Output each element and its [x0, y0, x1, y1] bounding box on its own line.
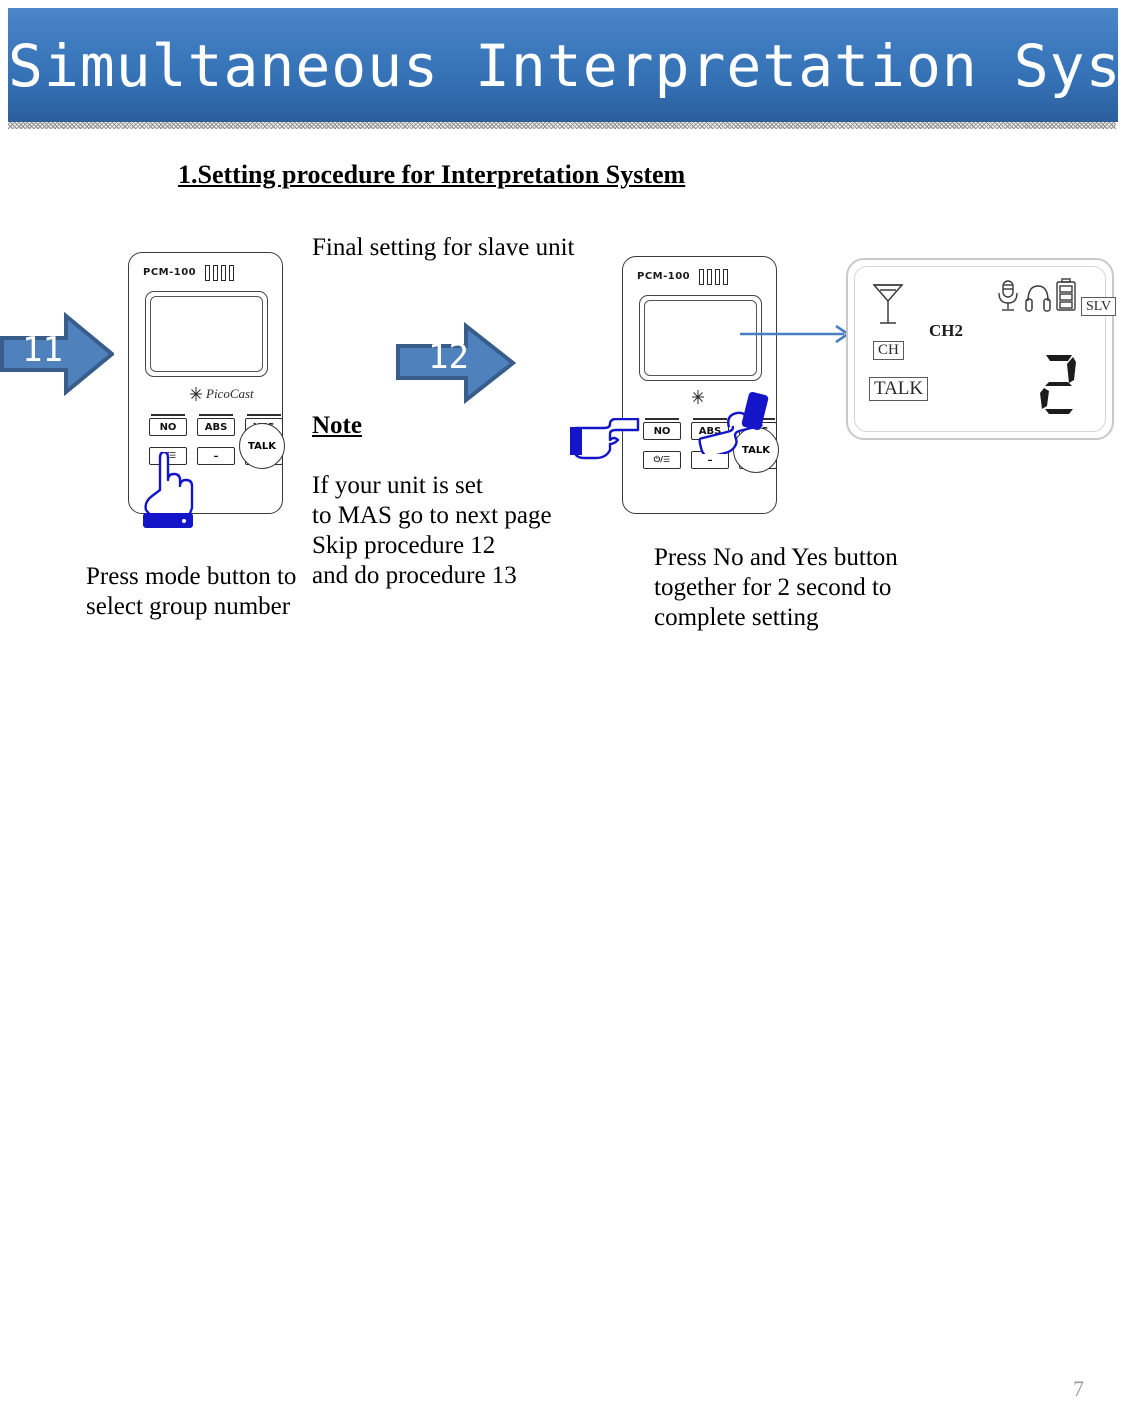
group-number-digit — [1039, 353, 1079, 415]
channel-label: CH2 — [929, 321, 963, 341]
note-block: Note If your unit is set to MAS go to ne… — [312, 381, 552, 621]
page-number: 7 — [1073, 1376, 1084, 1402]
pointing-hand-icon-left — [136, 452, 204, 533]
lcd-display-screen: SLV CH2 CH TALK — [854, 266, 1106, 432]
microphone-icon — [997, 279, 1019, 318]
final-setting-label: Final setting for slave unit — [312, 233, 574, 263]
pointing-hand-icon-yes — [694, 392, 774, 459]
slave-unit-right[interactable]: PCM-100 NO ABS YES ⏻/☰ – + TALK — [622, 256, 777, 514]
key-no[interactable]: NO — [149, 418, 187, 436]
picocast-brand: PicoCast — [189, 386, 254, 402]
key-talk[interactable]: TALK — [239, 423, 285, 469]
snowflake-icon — [189, 386, 203, 402]
note-title: Note — [312, 411, 552, 441]
antenna-icon — [871, 281, 905, 332]
headphone-icon — [1025, 283, 1051, 318]
press-mode-instruction: Press mode button to select group number — [86, 562, 296, 622]
step-arrow-12-label: 12 — [428, 337, 469, 377]
key-power-mode[interactable]: ⏻/☰ — [643, 451, 681, 469]
device-screen-glass — [150, 296, 263, 372]
signal-bars-icon — [699, 269, 728, 285]
header-banner: Simultaneous Interpretation System — [8, 8, 1118, 122]
lcd-display-panel: SLV CH2 CH TALK — [846, 258, 1114, 440]
press-no-yes-instruction: Press No and Yes button together for 2 s… — [654, 543, 898, 633]
slv-badge: SLV — [1081, 297, 1116, 316]
note-body: If your unit is set to MAS go to next pa… — [312, 471, 552, 591]
device-model-label: PCM-100 — [637, 271, 690, 282]
step-arrow-11: 11 — [0, 312, 114, 396]
talk-badge: TALK — [869, 377, 928, 401]
header-divider — [8, 122, 1116, 129]
page-title: Simultaneous Interpretation System — [8, 32, 1118, 100]
signal-bars-icon — [205, 265, 234, 281]
key-no[interactable]: NO — [643, 422, 681, 440]
section-heading: 1.Setting procedure for Interpretation S… — [178, 160, 685, 190]
battery-icon — [1055, 278, 1077, 317]
pointing-hand-icon-no — [570, 418, 642, 467]
device-model-label: PCM-100 — [143, 267, 196, 278]
callout-line-to-lcd — [740, 322, 856, 346]
step-arrow-11-label: 11 — [22, 330, 63, 370]
key-abs[interactable]: ABS — [197, 418, 235, 436]
picocast-brand-label: PicoCast — [206, 386, 254, 402]
device-screen — [145, 291, 268, 377]
ch-badge: CH — [873, 341, 904, 360]
